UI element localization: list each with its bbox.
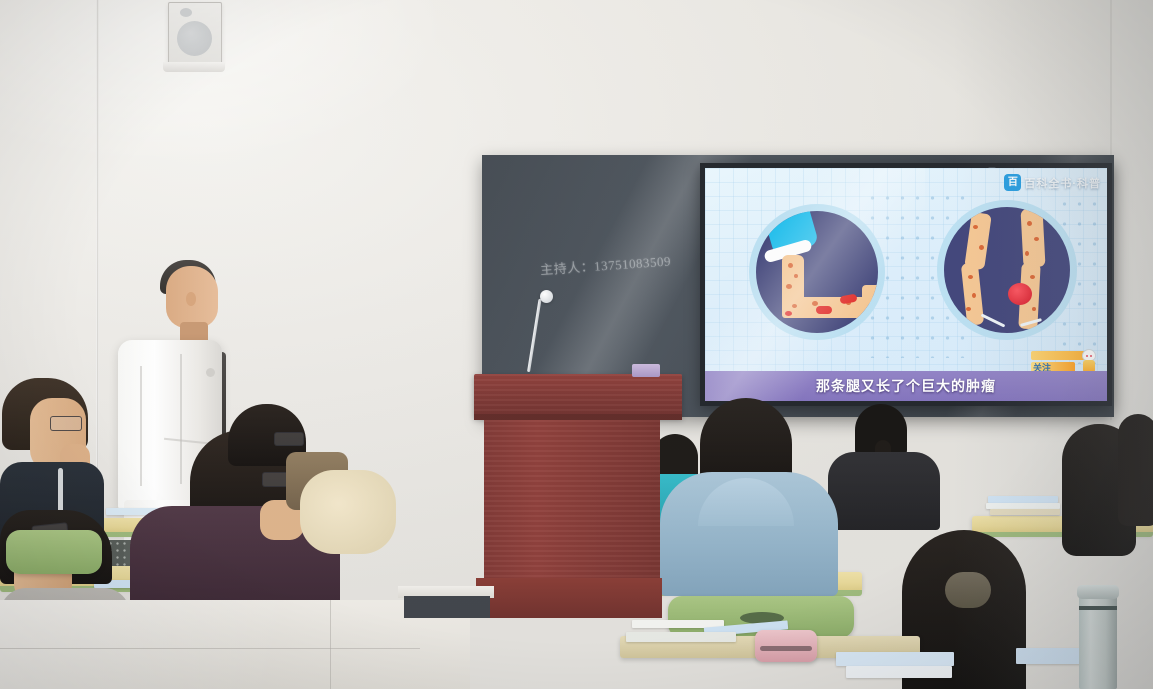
textbook <box>846 666 952 678</box>
lecturer-ear <box>186 292 196 306</box>
coat-fold <box>164 438 208 444</box>
coat-fold <box>140 366 142 486</box>
baseboard <box>404 596 490 618</box>
ceiling-light-glow <box>0 0 560 260</box>
wound-shape <box>816 306 832 314</box>
student-jacket <box>828 452 940 530</box>
lecturer-badge <box>206 368 215 377</box>
speaker-woofer <box>177 21 212 56</box>
paper-sheet <box>626 632 736 642</box>
lesion-spot <box>812 301 818 306</box>
chair-left-back <box>6 530 102 574</box>
coat-fold <box>180 354 182 484</box>
lesion-spot <box>792 304 797 308</box>
lesion-spot <box>786 284 792 289</box>
wall-shading <box>953 0 1153 689</box>
speaker-bracket <box>163 62 225 72</box>
glasses-icon <box>50 416 82 431</box>
podium-base <box>476 578 662 618</box>
wall-speaker-icon <box>168 2 222 66</box>
lesion-spot <box>788 263 793 268</box>
illustration-arm-with-lesions <box>749 204 885 340</box>
podium-top <box>474 374 682 418</box>
fur-hood-trim <box>300 470 396 554</box>
glasses-icon <box>274 432 304 446</box>
floor-tile-line <box>330 600 331 689</box>
floor-tile-line <box>0 648 420 649</box>
lesion-spot <box>794 274 798 278</box>
speaker-tweeter <box>180 8 192 17</box>
pencil-case-zipper <box>760 646 812 651</box>
microphone-icon[interactable] <box>540 290 553 303</box>
wound-shape <box>785 311 792 316</box>
classroom-scene: 主持人：13751083509 <box>0 0 1153 689</box>
floor <box>0 600 470 689</box>
textbook <box>836 652 954 666</box>
wood-grain <box>474 374 682 418</box>
podium-device[interactable] <box>632 364 660 377</box>
